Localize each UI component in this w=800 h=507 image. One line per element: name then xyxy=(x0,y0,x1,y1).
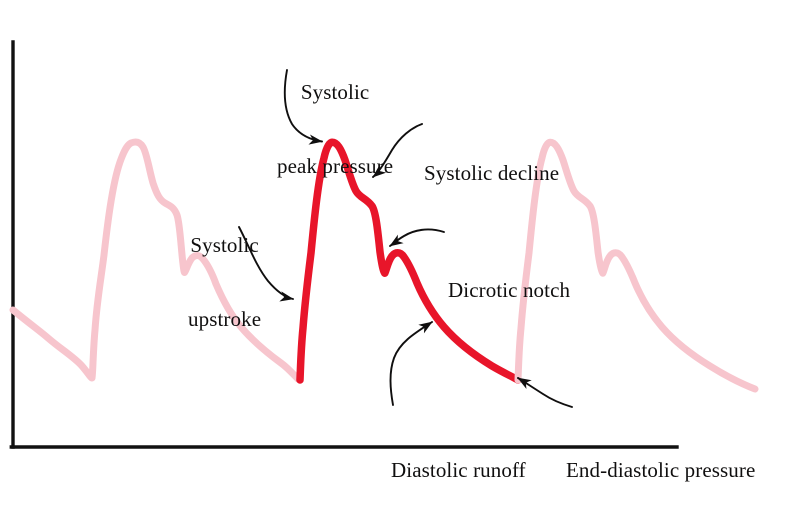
annotation-label-systolic-decline: Systolic decline xyxy=(424,111,559,210)
arrow-dicrotic-notch xyxy=(390,229,444,246)
annotation-line-2: peak pressure xyxy=(277,154,393,179)
annotation-line-1: Systolic decline xyxy=(424,161,559,186)
arrow-diastolic-runoff xyxy=(391,322,433,405)
annotation-label-dicrotic-notch: Dicrotic notch xyxy=(448,228,570,327)
annotation-label-systolic-peak-pressure: Systolic peak pressure xyxy=(277,30,393,203)
annotation-line-1: Diastolic runoff xyxy=(391,458,526,483)
annotation-line-1: Systolic xyxy=(277,80,393,105)
annotation-line-1: Systolic xyxy=(188,233,261,258)
annotation-line-2: upstroke xyxy=(188,307,261,332)
annotation-label-end-diastolic-pressure: End-diastolic pressure xyxy=(566,408,755,507)
annotation-line-1: End-diastolic pressure xyxy=(566,458,755,483)
annotation-label-diastolic-runoff: Diastolic runoff xyxy=(391,408,526,507)
arrow-end-diastolic-pressure xyxy=(518,378,572,407)
annotation-label-systolic-upstroke: Systolic upstroke xyxy=(188,183,261,356)
annotation-line-1: Dicrotic notch xyxy=(448,278,570,303)
arterial-waveform-figure xyxy=(0,0,800,465)
